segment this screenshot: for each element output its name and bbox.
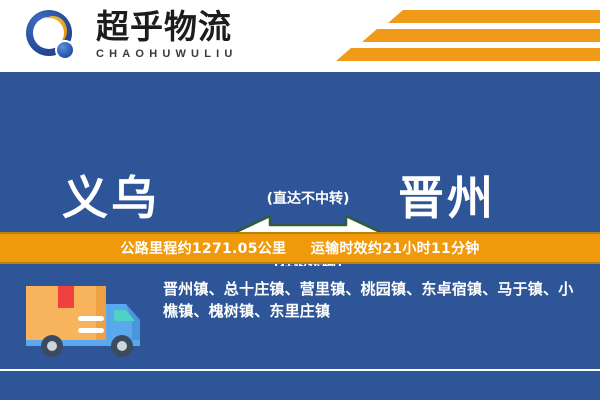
logistics-route-banner: 超乎物流 CHAOHUWULIU 义乌 (直达不中转) 【往返运输】 晋州 公路… bbox=[0, 0, 600, 400]
footer-divider bbox=[0, 369, 600, 371]
route-info-bar: 公路里程约1271.05公里 运输时效约21小时11分钟 bbox=[0, 232, 600, 264]
banner-header: 超乎物流 CHAOHUWULIU bbox=[0, 0, 600, 72]
circle-crescent-logo-icon bbox=[26, 10, 82, 64]
origin-city-name: 义乌 bbox=[62, 172, 160, 224]
direct-service-note: (直达不中转) bbox=[228, 190, 388, 208]
served-towns-list: 晋州镇、总十庄镇、营里镇、桃园镇、东卓宿镇、马于镇、小樵镇、槐树镇、东里庄镇 bbox=[163, 278, 583, 322]
stripe-3 bbox=[336, 48, 600, 61]
banner-footer: 晋州镇、总十庄镇、营里镇、桃园镇、东卓宿镇、马于镇、小樵镇、槐树镇、东里庄镇 bbox=[0, 266, 600, 400]
orange-speed-stripes-icon bbox=[336, 8, 600, 66]
route-section: 义乌 (直达不中转) 【往返运输】 晋州 bbox=[0, 72, 600, 228]
info-bar-text: 公路里程约1271.05公里 运输时效约21小时11分钟 bbox=[120, 238, 479, 258]
stripe-1 bbox=[388, 10, 600, 23]
stripe-2 bbox=[362, 29, 600, 42]
duration-value: 运输时效约21小时11分钟 bbox=[311, 241, 480, 257]
logo-accent-dot bbox=[55, 40, 75, 60]
brand-block: 超乎物流 CHAOHUWULIU bbox=[96, 9, 276, 61]
brand-name-pinyin: CHAOHUWULIU bbox=[96, 47, 276, 61]
delivery-truck-icon bbox=[22, 278, 146, 363]
distance-value: 公路里程约1271.05公里 bbox=[120, 241, 286, 257]
brand-name-cn: 超乎物流 bbox=[96, 9, 276, 45]
destination-city-name: 晋州 bbox=[398, 172, 496, 224]
